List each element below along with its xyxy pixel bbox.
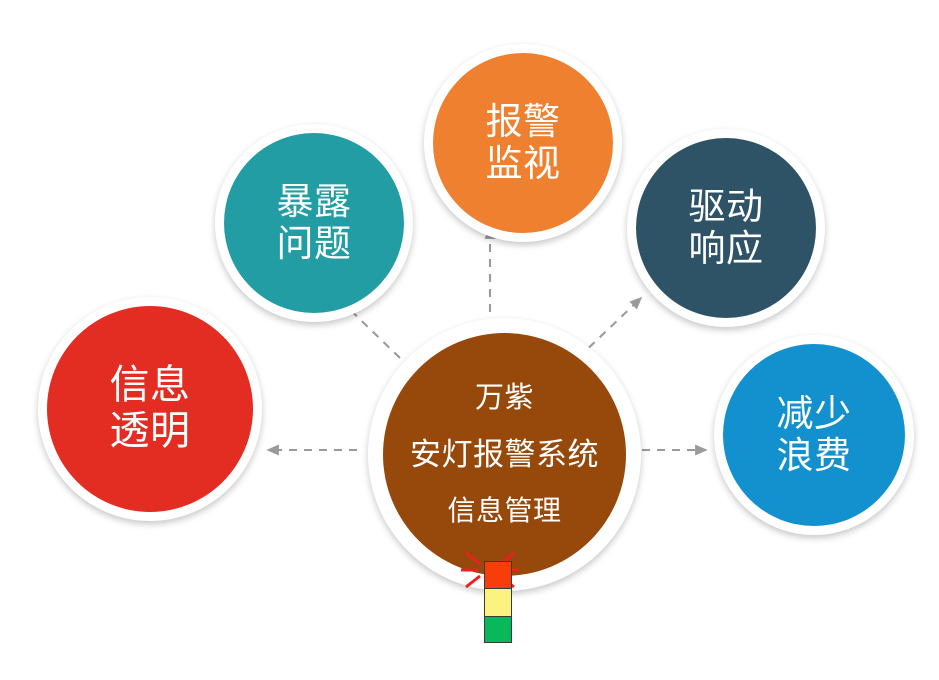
node-reduce-waste[interactable]: 减少 浪费	[714, 335, 914, 535]
red-lamp	[484, 561, 512, 588]
node-expose-problems[interactable]: 暴露 问题	[215, 124, 413, 322]
andon-lamp-stack	[484, 561, 512, 643]
node-reduce-waste-disc: 减少 浪费	[723, 344, 905, 526]
node-information-transparency-line-2: 透明	[110, 409, 191, 455]
node-information-transparency[interactable]: 信息 透明	[38, 297, 262, 521]
node-drive-response-disc: 驱动 响应	[636, 138, 816, 318]
node-alarm-monitoring[interactable]: 报警 监视	[424, 44, 622, 242]
diagram-canvas: 报警 监视 暴露 问题 驱动 响应 信息 透明 减少 浪费 万紫 安	[0, 0, 939, 680]
node-information-transparency-line-1: 信息	[110, 363, 191, 409]
node-alarm-monitoring-disc: 报警 监视	[433, 53, 613, 233]
hub-line-2: 安灯报警系统	[410, 437, 599, 472]
node-drive-response-line-2: 响应	[689, 228, 764, 270]
node-reduce-waste-line-2: 浪费	[777, 435, 852, 477]
green-lamp	[484, 616, 512, 643]
yellow-lamp	[484, 588, 512, 615]
node-expose-problems-disc: 暴露 问题	[224, 133, 404, 313]
hub-line-3: 信息管理	[447, 495, 561, 527]
node-alarm-monitoring-line-1: 报警	[486, 101, 561, 143]
node-andon-system-hub-disc: 万紫 安灯报警系统 信息管理	[383, 333, 626, 576]
flash-ray-left-upper	[466, 553, 480, 564]
node-drive-response-line-1: 驱动	[689, 186, 764, 228]
node-reduce-waste-line-1: 减少	[777, 393, 852, 435]
hub-line-1: 万紫	[475, 382, 534, 415]
node-alarm-monitoring-line-2: 监视	[486, 143, 561, 185]
node-drive-response[interactable]: 驱动 响应	[627, 129, 825, 327]
node-expose-problems-line-1: 暴露	[277, 181, 352, 223]
node-expose-problems-line-2: 问题	[277, 223, 352, 265]
flash-ray-left-lower	[466, 576, 480, 587]
node-information-transparency-disc: 信息 透明	[47, 306, 253, 512]
andon-light-tower	[460, 551, 520, 643]
